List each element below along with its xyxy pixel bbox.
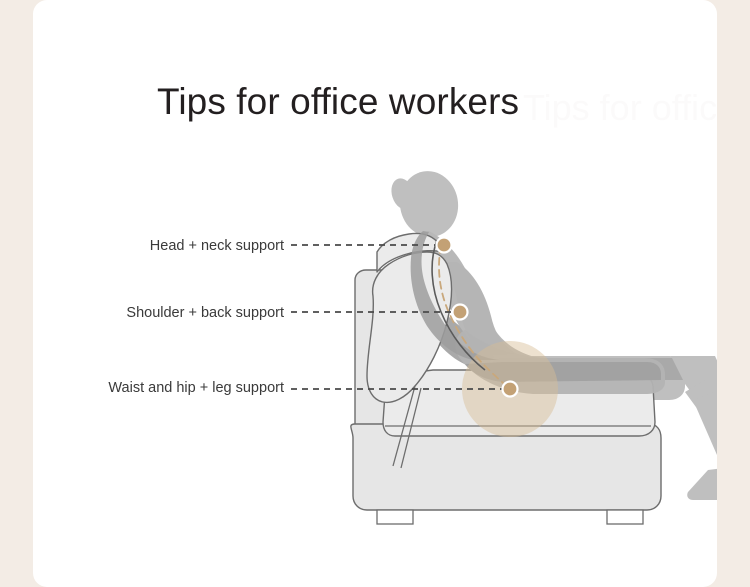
foot <box>687 466 717 500</box>
marker-head-neck <box>437 238 452 253</box>
callout-label-head-neck: Head + neck support <box>150 237 284 255</box>
content-card: Tips for office workers Tips for office … <box>33 0 717 587</box>
illustration-page: Tips for office workers Tips for office … <box>0 0 750 587</box>
marker-shoulder-back <box>453 305 468 320</box>
sofa-leg-left <box>377 510 413 524</box>
callout-label-shoulder-back: Shoulder + back support <box>126 304 284 322</box>
sofa-base <box>351 424 661 510</box>
seated-posture-illustration <box>33 0 717 587</box>
callout-label-waist-hip-leg: Waist and hip + leg support <box>108 379 284 397</box>
calf <box>693 392 717 478</box>
marker-waist-hip-leg <box>503 382 518 397</box>
sofa-leg-right <box>607 510 643 524</box>
head <box>395 166 464 241</box>
